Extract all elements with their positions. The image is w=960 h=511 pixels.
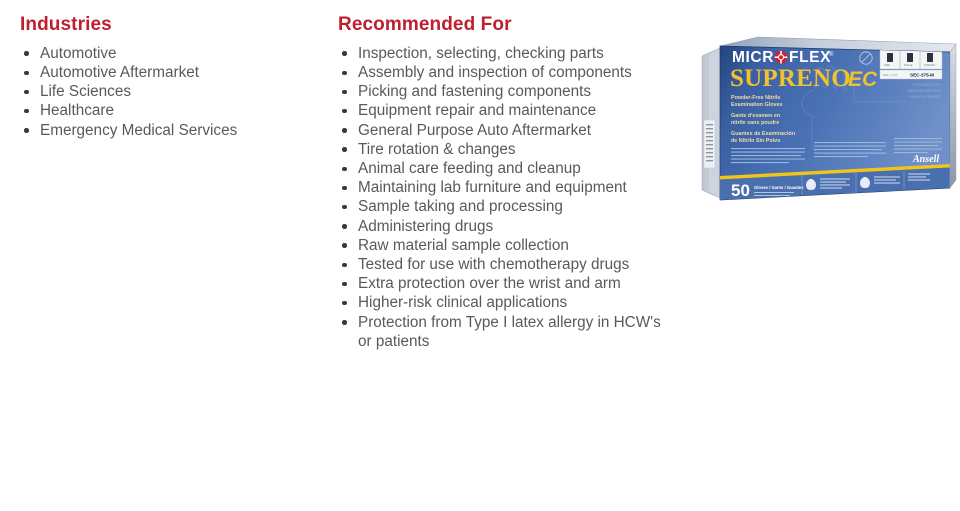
recommended-for-heading: Recommended For (338, 14, 666, 37)
svg-text:Guantes de Examinación: Guantes de Examinación (731, 131, 795, 137)
list-item: Automotive (18, 44, 318, 63)
svg-text:FLEX: FLEX (789, 49, 831, 66)
list-item: Assembly and inspection of components (336, 63, 666, 82)
svg-text:MICR: MICR (732, 49, 774, 66)
list-item: Healthcare (18, 101, 318, 120)
list-item: Protection from Type I latex allergy in … (336, 313, 666, 351)
ansell-logo: Ansell (912, 154, 939, 165)
svg-text:MANCHE À REVERS: MANCHE À REVERS (908, 89, 942, 93)
svg-text:Examination Gloves: Examination Gloves (731, 102, 783, 108)
industries-heading: Industries (20, 14, 318, 37)
list-item: Extra protection over the wrist and arm (336, 274, 666, 293)
svg-text:PUÑO EXTENDIDO: PUÑO EXTENDIDO (910, 94, 941, 99)
sku-code-text: SEC-375-M (910, 73, 934, 78)
recommended-for-column: Recommended For Inspection, selecting, c… (336, 14, 666, 351)
recommended-for-list: Inspection, selecting, checking parts As… (336, 44, 666, 351)
svg-text:SIZE: SIZE (884, 63, 890, 67)
product-image: MICR FLEX ® SUPRENO ´ EC Powder-Free Nit… (698, 28, 960, 210)
list-item: General Purpose Auto Aftermarket (336, 121, 666, 140)
list-item: Picking and fastening components (336, 82, 666, 101)
list-item: Life Sciences (18, 82, 318, 101)
industries-column: Industries Automotive Automotive Afterma… (18, 14, 318, 140)
svg-text:Powder-Free Nitrile: Powder-Free Nitrile (731, 95, 780, 101)
svg-text:50: 50 (731, 181, 750, 200)
list-item: Inspection, selecting, checking parts (336, 44, 666, 63)
list-item: Automotive Aftermarket (18, 63, 318, 82)
list-item: Tested for use with chemotherapy drugs (336, 255, 666, 274)
industries-list: Automotive Automotive Aftermarket Life S… (18, 44, 318, 140)
svg-text:de Nitrilo Sin Polvo: de Nitrilo Sin Polvo (731, 138, 781, 144)
list-item: Administering drugs (336, 217, 666, 236)
box-right-edge (950, 44, 956, 188)
list-item: Higher-risk clinical applications (336, 293, 666, 312)
svg-text:Gloves / Gants / Guantes: Gloves / Gants / Guantes (754, 185, 804, 190)
list-item: Emergency Medical Services (18, 121, 318, 140)
list-item: Animal care feeding and cleanup (336, 159, 666, 178)
list-item: Sample taking and processing (336, 197, 666, 216)
svg-text:®: ® (829, 51, 834, 58)
list-item: Raw material sample collection (336, 236, 666, 255)
svg-text:EC: EC (848, 68, 878, 91)
list-item: Tire rotation & changes (336, 140, 666, 159)
product-name-supreno-ec: SUPRENO ´ EC (730, 65, 878, 92)
svg-text:nitrile sans poudre: nitrile sans poudre (731, 120, 779, 126)
list-item: Maintaining lab furniture and equipment (336, 178, 666, 197)
svg-text:Ansell: Ansell (912, 154, 939, 165)
svg-text:TAILLE: TAILLE (904, 63, 913, 67)
svg-text:EXTENDED CUFF: EXTENDED CUFF (913, 83, 941, 87)
stacked-boxes-behind (702, 47, 722, 199)
svg-text:Gants d'examen en: Gants d'examen en (731, 113, 780, 119)
svg-text:´: ´ (842, 69, 845, 79)
svg-text:REF / CAT.: REF / CAT. (883, 73, 898, 77)
svg-text:SUPRENO: SUPRENO (730, 65, 851, 92)
label-fineprint: EXTENDED CUFF MANCHE À REVERS PUÑO EXTEN… (908, 83, 942, 99)
list-item: Equipment repair and maintenance (336, 101, 666, 120)
